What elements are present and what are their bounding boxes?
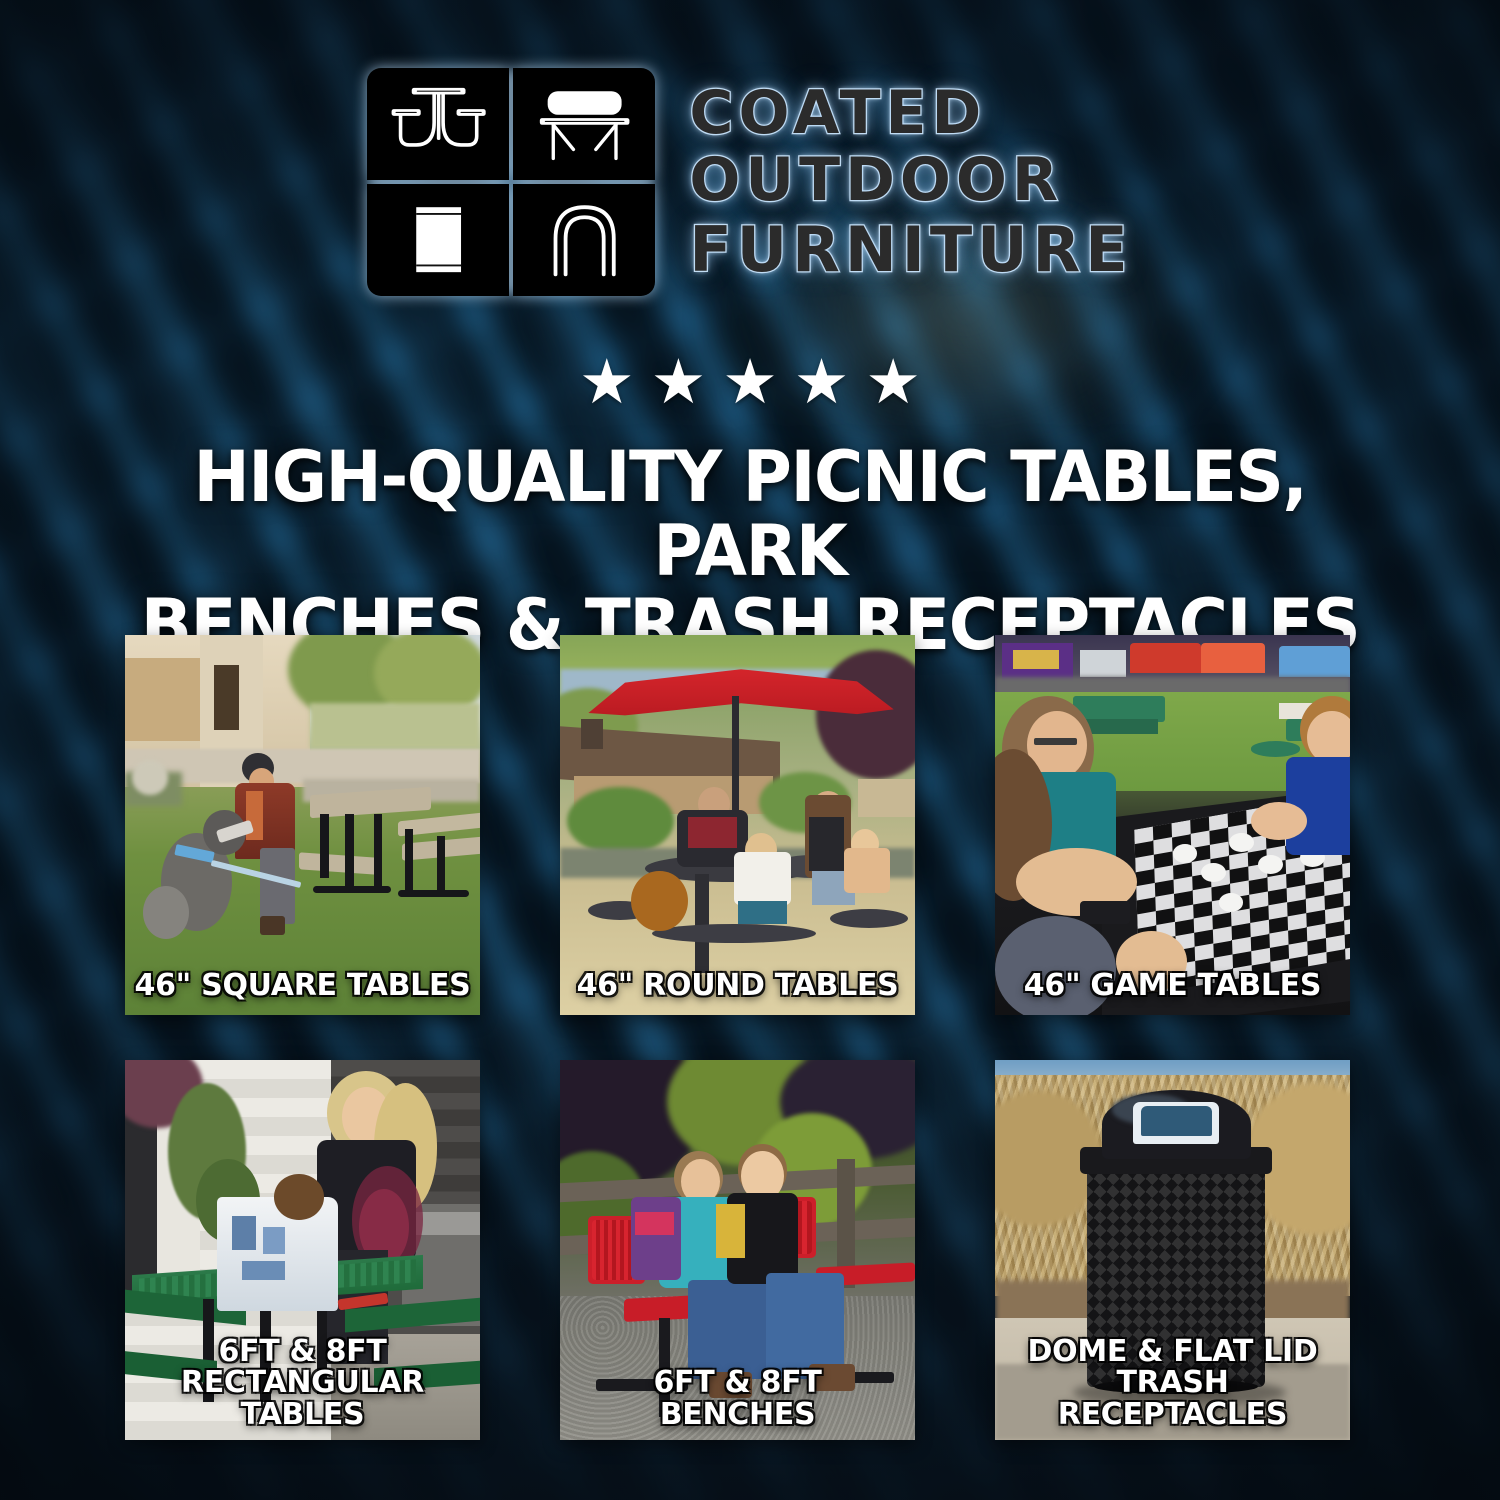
trash-receptacle-icon [379, 196, 498, 283]
caption-line-1: 6FT & 8FT [568, 1367, 907, 1399]
promotional-poster: COATED OUTDOOR FURNITURE ★ ★ ★ ★ ★ HIGH-… [0, 0, 1500, 1500]
product-caption-round-tables: 46" ROUND TABLES [560, 970, 915, 1002]
caption-line-1: 46" GAME TABLES [1003, 970, 1342, 1002]
product-caption-square-tables: 46" SQUARE TABLES [125, 970, 480, 1002]
product-photo-game-tables [995, 635, 1350, 1015]
star-icon-2: ★ [651, 352, 707, 414]
logo-tile-arch-bike-rack [513, 184, 655, 296]
product-caption-benches: 6FT & 8FT BENCHES [560, 1367, 915, 1430]
logo-mark [367, 68, 655, 296]
product-caption-trash-receptacles: DOME & FLAT LID TRASH RECEPTACLES [995, 1336, 1350, 1431]
park-bench-icon [525, 80, 644, 167]
product-photo-round-tables [560, 635, 915, 1015]
star-rating: ★ ★ ★ ★ ★ [0, 352, 1500, 414]
caption-line-1: 46" ROUND TABLES [568, 970, 907, 1002]
star-icon-5: ★ [865, 352, 921, 414]
brand-wordmark: COATED OUTDOOR FURNITURE [689, 83, 1132, 281]
caption-line-2: RECTANGULAR TABLES [133, 1367, 472, 1430]
brand-line-1: COATED [689, 83, 1132, 144]
product-caption-game-tables: 46" GAME TABLES [995, 970, 1350, 1002]
product-category-grid: 46" SQUARE TABLES [125, 635, 1375, 1440]
logo-tile-trash-receptacle [367, 184, 509, 296]
brand-line-2: OUTDOOR [689, 150, 1132, 211]
headline-line-1: HIGH-QUALITY PICNIC TABLES, PARK [97, 440, 1403, 588]
brand-logo: COATED OUTDOOR FURNITURE [0, 68, 1500, 296]
product-card-square-tables[interactable]: 46" SQUARE TABLES [125, 635, 480, 1015]
product-card-benches[interactable]: 6FT & 8FT BENCHES [560, 1060, 915, 1440]
product-card-game-tables[interactable]: 46" GAME TABLES [995, 635, 1350, 1015]
star-icon-3: ★ [722, 352, 778, 414]
product-photo-square-tables [125, 635, 480, 1015]
brand-line-3: FURNITURE [689, 218, 1132, 281]
picnic-table-icon [379, 80, 498, 167]
logo-tile-park-bench [513, 68, 655, 180]
caption-line-1: 6FT & 8FT [133, 1336, 472, 1368]
star-icon-4: ★ [794, 352, 850, 414]
caption-line-2: BENCHES [568, 1399, 907, 1431]
caption-line-1: DOME & FLAT LID [1003, 1336, 1342, 1368]
caption-line-2: TRASH RECEPTACLES [1003, 1367, 1342, 1430]
product-card-trash-receptacles[interactable]: DOME & FLAT LID TRASH RECEPTACLES [995, 1060, 1350, 1440]
product-caption-rectangular-tables: 6FT & 8FT RECTANGULAR TABLES [125, 1336, 480, 1431]
product-card-round-tables[interactable]: 46" ROUND TABLES [560, 635, 915, 1015]
arch-bike-rack-icon [525, 196, 644, 283]
product-card-rectangular-tables[interactable]: 6FT & 8FT RECTANGULAR TABLES [125, 1060, 480, 1440]
star-icon-1: ★ [579, 352, 635, 414]
caption-line-1: 46" SQUARE TABLES [133, 970, 472, 1002]
page-title: HIGH-QUALITY PICNIC TABLES, PARK BENCHES… [97, 440, 1403, 663]
logo-tile-picnic-table [367, 68, 509, 180]
